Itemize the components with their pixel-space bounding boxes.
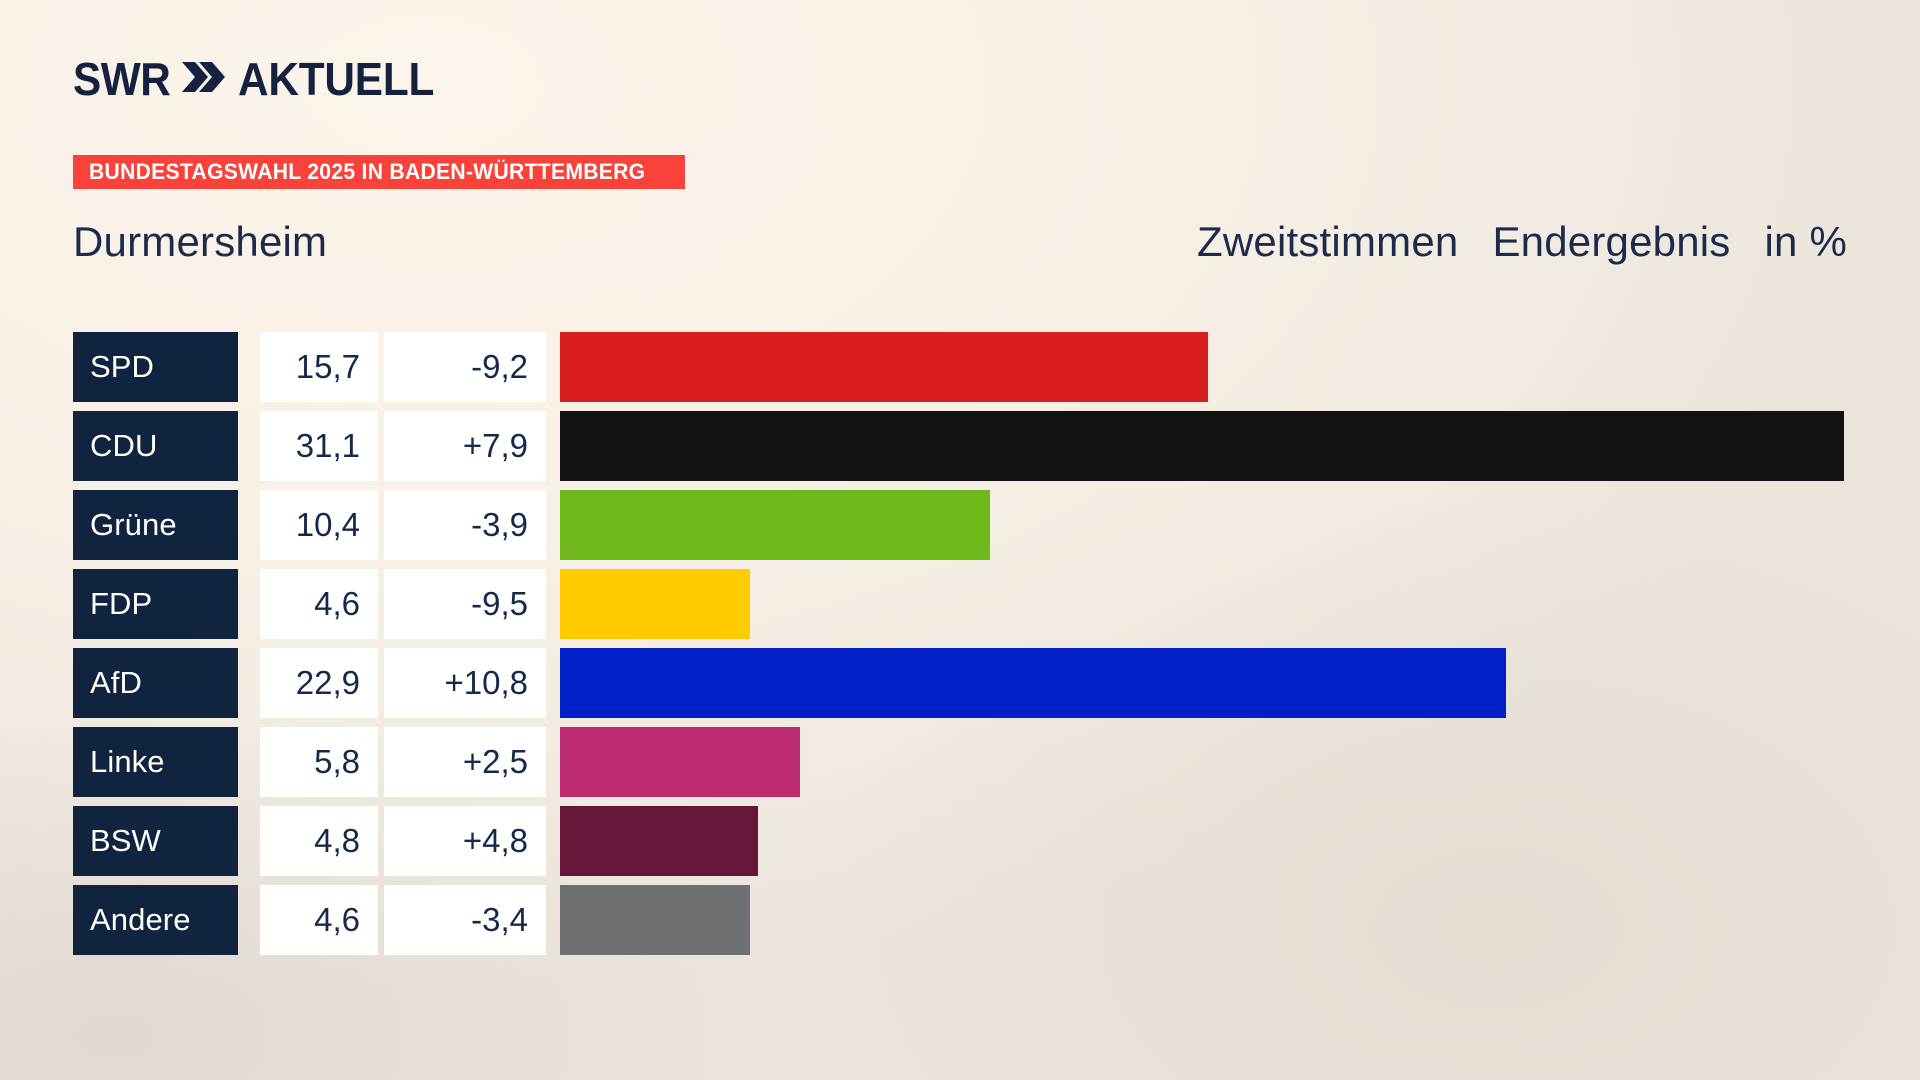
logo-aktuell-text: AKTUELL — [238, 52, 434, 106]
party-share-value: 4,6 — [260, 569, 378, 639]
party-share-value: 15,7 — [260, 332, 378, 402]
bar-track — [560, 648, 1920, 718]
chart-row: Grüne10,4-3,9 — [73, 490, 1920, 569]
election-banner: BUNDESTAGSWAHL 2025 IN BADEN-WÜRTTEMBERG — [73, 155, 685, 189]
chart-meta: Zweitstimmen Endergebnis in % — [1197, 218, 1847, 266]
chart-row: AfD22,9+10,8 — [73, 648, 1920, 727]
party-share-value: 22,9 — [260, 648, 378, 718]
bar-track — [560, 569, 1920, 639]
bar-track — [560, 885, 1920, 955]
party-label-fdp: FDP — [73, 569, 238, 639]
election-banner-text: BUNDESTAGSWAHL 2025 IN BADEN-WÜRTTEMBERG — [89, 159, 645, 185]
party-change-value: -3,9 — [384, 490, 546, 560]
logo-swr-text: SWR — [73, 52, 170, 106]
party-label-cdu: CDU — [73, 411, 238, 481]
unit-label: in % — [1764, 218, 1847, 266]
bar-track — [560, 332, 1920, 402]
bar-linke — [560, 727, 800, 797]
infographic-root: SWR AKTUELL BUNDESTAGSWAHL 2025 IN BADEN… — [0, 0, 1920, 1080]
bar-track — [560, 411, 1920, 481]
chart-row: CDU31,1+7,9 — [73, 411, 1920, 490]
bar-afd — [560, 648, 1506, 718]
party-share-value: 31,1 — [260, 411, 378, 481]
bar-fdp — [560, 569, 750, 639]
party-change-value: +2,5 — [384, 727, 546, 797]
party-share-value: 4,6 — [260, 885, 378, 955]
party-change-value: +10,8 — [384, 648, 546, 718]
results-chart: SPD15,7-9,2CDU31,1+7,9Grüne10,4-3,9FDP4,… — [73, 332, 1920, 964]
party-share-value: 4,8 — [260, 806, 378, 876]
party-label-afd: AfD — [73, 648, 238, 718]
swr-aktuell-logo: SWR AKTUELL — [73, 52, 451, 106]
title-row: Durmersheim Zweitstimmen Endergebnis in … — [73, 218, 1847, 266]
bar-andere — [560, 885, 750, 955]
party-share-value: 10,4 — [260, 490, 378, 560]
party-label-andere: Andere — [73, 885, 238, 955]
chart-row: SPD15,7-9,2 — [73, 332, 1920, 411]
result-status-label: Endergebnis — [1492, 218, 1730, 266]
bar-track — [560, 490, 1920, 560]
page-title: Durmersheim — [73, 218, 327, 266]
chart-row: FDP4,6-9,5 — [73, 569, 1920, 648]
party-change-value: +4,8 — [384, 806, 546, 876]
party-change-value: +7,9 — [384, 411, 546, 481]
bar-track — [560, 727, 1920, 797]
bar-bsw — [560, 806, 758, 876]
party-share-value: 5,8 — [260, 727, 378, 797]
chart-row: Andere4,6-3,4 — [73, 885, 1920, 964]
party-label-linke: Linke — [73, 727, 238, 797]
bar-track — [560, 806, 1920, 876]
party-change-value: -3,4 — [384, 885, 546, 955]
chart-row: BSW4,8+4,8 — [73, 806, 1920, 885]
party-label-grüne: Grüne — [73, 490, 238, 560]
chart-row: Linke5,8+2,5 — [73, 727, 1920, 806]
party-label-spd: SPD — [73, 332, 238, 402]
double-chevron-right-icon — [182, 60, 226, 94]
party-label-bsw: BSW — [73, 806, 238, 876]
bar-cdu — [560, 411, 1844, 481]
bar-spd — [560, 332, 1208, 402]
vote-type-label: Zweitstimmen — [1197, 218, 1458, 266]
bar-grüne — [560, 490, 990, 560]
party-change-value: -9,5 — [384, 569, 546, 639]
party-change-value: -9,2 — [384, 332, 546, 402]
